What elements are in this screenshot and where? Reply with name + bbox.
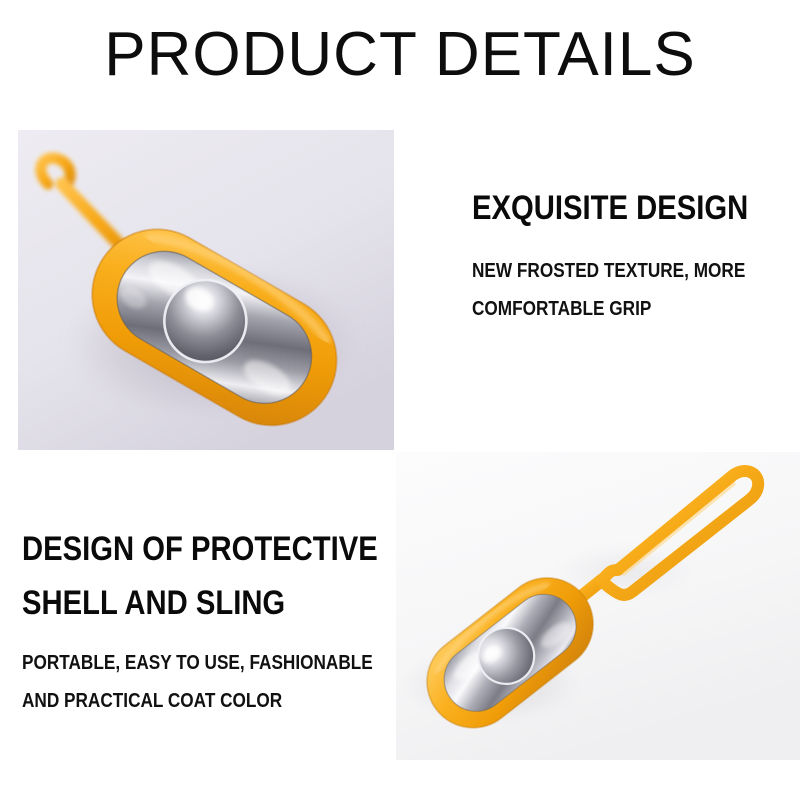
feature-body: PORTABLE, EASY TO USE, FASHIONABLE AND P… — [22, 644, 402, 720]
feature-heading-line: DESIGN OF PROTECTIVE — [22, 522, 349, 576]
feature-body-line: PORTABLE, EASY TO USE, FASHIONABLE — [22, 644, 349, 682]
product-full-illustration — [396, 452, 800, 760]
feature-body: NEW FROSTED TEXTURE, MORE COMFORTABLE GR… — [472, 252, 782, 328]
product-closeup-illustration — [18, 130, 394, 450]
product-full-photo — [396, 452, 800, 760]
product-closeup-photo — [18, 130, 394, 450]
feature-body-line: AND PRACTICAL COAT COLOR — [22, 682, 349, 720]
feature-protective-shell-sling: DESIGN OF PROTECTIVE SHELL AND SLING POR… — [22, 522, 402, 720]
feature-exquisite-design: EXQUISITE DESIGN NEW FROSTED TEXTURE, MO… — [472, 188, 782, 328]
page-title: PRODUCT DETAILS — [0, 24, 800, 86]
feature-heading-line: SHELL AND SLING — [22, 576, 349, 630]
feature-body-line: COMFORTABLE GRIP — [472, 290, 739, 328]
feature-body-line: NEW FROSTED TEXTURE, MORE — [472, 252, 739, 290]
feature-heading-line: EXQUISITE DESIGN — [472, 188, 739, 228]
